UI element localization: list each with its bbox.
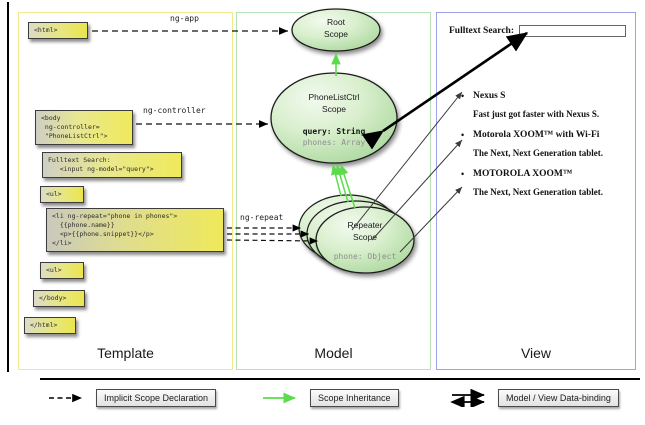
view-item-title: Motorola XOOM™ with Wi-Fi: [459, 127, 629, 143]
template-box-body-close-tag: </body>: [33, 290, 85, 307]
view-item-title: Nexus S: [459, 88, 629, 104]
view-item-title: MOTOROLA XOOM™: [459, 166, 629, 182]
view-search-label: Fulltext Search:: [449, 26, 514, 36]
view-item-snippet: The Next, Next Generation tablet.: [459, 145, 629, 161]
legend-label-implicit-scope-declaration: Implicit Scope Declaration: [96, 389, 216, 407]
view-phone-list: Nexus S Fast just got faster with Nexus …: [459, 88, 629, 205]
panel-template-label: Template: [19, 345, 232, 361]
template-box-li-ngrepeat-markup: <li ng-repeat="phone in phones"> {{phone…: [46, 208, 224, 252]
left-margin-rule: [7, 2, 9, 372]
template-box-ul-open-tag: <ul>: [40, 186, 84, 203]
panel-model: Model: [236, 12, 431, 370]
view-search-input[interactable]: [519, 25, 626, 37]
list-item[interactable]: Nexus S Fast just got faster with Nexus …: [459, 88, 629, 122]
list-item[interactable]: MOTOROLA XOOM™ The Next, Next Generation…: [459, 166, 629, 200]
legend-label-scope-inheritance: Scope Inheritance: [310, 389, 399, 407]
panel-model-label: Model: [237, 345, 430, 361]
view-item-snippet: Fast just got faster with Nexus S.: [459, 106, 629, 122]
view-item-snippet: The Next, Next Generation tablet.: [459, 184, 629, 200]
template-box-search-input-markup: Fulltext Search: <input ng-model="query"…: [42, 152, 182, 178]
connector-label-ng-controller: ng-controller: [143, 106, 206, 115]
template-box-body-tag: <body ng-controller= "PhoneListCtrl">: [35, 110, 133, 145]
view-search-row: Fulltext Search:: [449, 25, 626, 37]
green-arrow-icon: [262, 392, 304, 404]
panel-view-label: View: [437, 345, 635, 361]
legend: Implicit Scope Declaration Scope Inherit…: [0, 386, 645, 418]
list-item[interactable]: Motorola XOOM™ with Wi-Fi The Next, Next…: [459, 127, 629, 161]
legend-label-model-view-data-binding: Model / View Data-binding: [498, 389, 619, 407]
legend-scope-inheritance: Scope Inheritance: [262, 389, 399, 407]
panel-view: Fulltext Search: Nexus S Fast just got f…: [436, 12, 636, 370]
template-box-html-open-tag: <html>: [28, 22, 88, 39]
legend-divider: [40, 378, 640, 380]
template-box-ul-close-tag: <ul>: [40, 262, 84, 279]
dashed-arrow-icon: [48, 392, 90, 404]
legend-model-view-data-binding: Model / View Data-binding: [450, 389, 619, 407]
legend-implicit-scope-declaration: Implicit Scope Declaration: [48, 389, 216, 407]
double-arrow-icon: [450, 389, 492, 407]
connector-label-ng-repeat: ng-repeat: [240, 213, 283, 222]
angularjs-scope-diagram: Template <html> <body ng-controller= "Ph…: [0, 0, 645, 425]
template-box-html-close-tag: </html>: [24, 317, 76, 334]
connector-label-ng-app: ng-app: [170, 14, 199, 23]
